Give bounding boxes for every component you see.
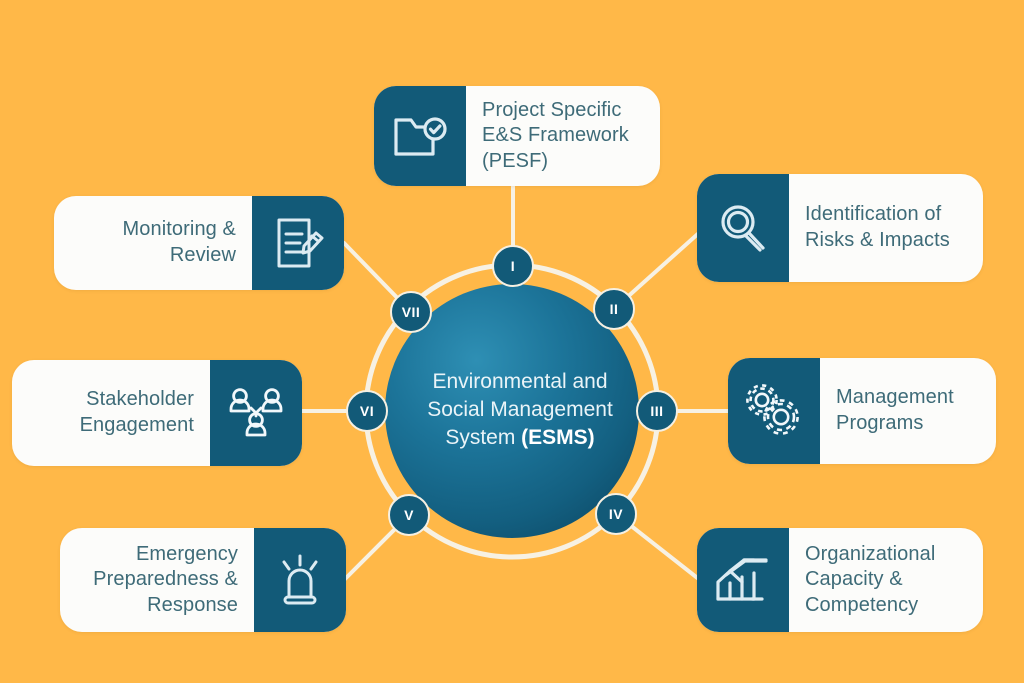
label-line: Engagement xyxy=(80,413,194,439)
card-management-programs[interactable]: ManagementPrograms xyxy=(728,358,996,464)
document-pen-icon xyxy=(252,196,344,290)
label-line: Response xyxy=(93,593,238,619)
badge-iii[interactable]: III xyxy=(636,390,678,432)
label-line: Competency xyxy=(805,593,935,619)
label-line: (PESF) xyxy=(482,149,629,175)
label-line: Project Specific xyxy=(482,98,629,124)
gears-icon xyxy=(728,358,820,464)
label-line: Preparedness & xyxy=(93,567,238,593)
pesf-label: Project SpecificE&S Framework(PESF) xyxy=(466,86,660,186)
monitoring-label: Monitoring &Review xyxy=(54,196,252,290)
label-line: Stakeholder xyxy=(80,387,194,413)
card-identification-of-risks-and-impacts[interactable]: Identification ofRisks & Impacts xyxy=(697,174,983,282)
badge-ii[interactable]: II xyxy=(593,288,635,330)
label-line: Programs xyxy=(836,411,954,437)
badge-numeral: VII xyxy=(402,304,421,320)
esms-diagram-canvas: Environmental and Social Management Syst… xyxy=(0,0,1024,683)
label-line: Risks & Impacts xyxy=(805,228,950,254)
emergency-label: EmergencyPreparedness &Response xyxy=(60,528,254,632)
badge-numeral: III xyxy=(650,403,663,419)
label-line: Capacity & xyxy=(805,567,935,593)
magnifier-icon xyxy=(697,174,789,282)
label-line: Organizational xyxy=(805,542,935,568)
label-line: E&S Framework xyxy=(482,123,629,149)
risks-label: Identification ofRisks & Impacts xyxy=(789,174,983,282)
badge-numeral: VI xyxy=(360,403,374,419)
card-monitoring-and-review[interactable]: Monitoring &Review xyxy=(54,196,344,290)
label-line: Monitoring & xyxy=(123,217,236,243)
card-stakeholder-engagement[interactable]: StakeholderEngagement xyxy=(12,360,302,466)
badge-numeral: I xyxy=(511,258,515,274)
folder-check-icon xyxy=(374,86,466,186)
label-line: Review xyxy=(123,243,236,269)
card-organizational-capacity-and-competency[interactable]: OrganizationalCapacity &Competency xyxy=(697,528,983,632)
badge-v[interactable]: V xyxy=(388,494,430,536)
label-line: Identification of xyxy=(805,202,950,228)
capacity-label: OrganizationalCapacity &Competency xyxy=(789,528,983,632)
badge-numeral: II xyxy=(610,301,619,317)
card-emergency-preparedness-and-response[interactable]: EmergencyPreparedness &Response xyxy=(60,528,346,632)
label-line: Emergency xyxy=(93,542,238,568)
bar-chart-growth-icon xyxy=(697,528,789,632)
badge-numeral: IV xyxy=(609,506,623,522)
card-project-specific-es-framework[interactable]: Project SpecificE&S Framework(PESF) xyxy=(374,86,660,186)
badge-iv[interactable]: IV xyxy=(595,493,637,535)
badge-vii[interactable]: VII xyxy=(390,291,432,333)
badge-vi[interactable]: VI xyxy=(346,390,388,432)
siren-icon xyxy=(254,528,346,632)
people-group-icon xyxy=(210,360,302,466)
label-line: Management xyxy=(836,385,954,411)
badge-i[interactable]: I xyxy=(492,245,534,287)
programs-label: ManagementPrograms xyxy=(820,358,996,464)
badge-numeral: V xyxy=(404,507,414,523)
stakeholder-label: StakeholderEngagement xyxy=(12,360,210,466)
